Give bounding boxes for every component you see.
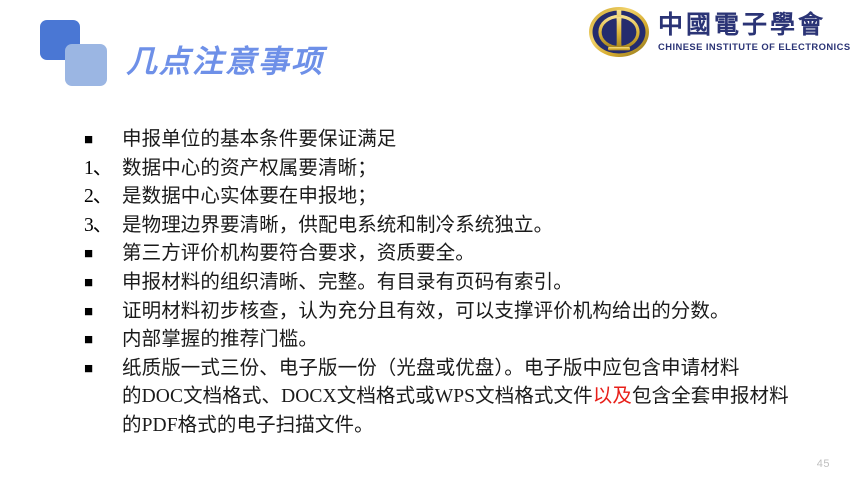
list-item: 2、 是数据中心实体要在申报地； bbox=[84, 183, 844, 212]
list-item-text: 证明材料初步核查，认为充分且有效，可以支撑评价机构给出的分数。 bbox=[122, 298, 844, 327]
last-item-line-3: 的PDF格式的电子扫描文件。 bbox=[122, 412, 844, 441]
list-marker-number: 2、 bbox=[84, 183, 122, 212]
last-item-line-2-before: 的DOC文档格式、DOCX文档格式或WPS文档格式文件 bbox=[122, 386, 593, 407]
bullet-square-icon: ■ bbox=[84, 298, 122, 327]
list-item-text: 数据中心的资产权属要清晰； bbox=[122, 155, 844, 184]
bullet-square-icon: ■ bbox=[84, 355, 122, 384]
list-marker-number: 1、 bbox=[84, 155, 122, 184]
header-decoration bbox=[40, 20, 118, 86]
logo-english-name: CHINESE INSTITUTE OF ELECTRONICS bbox=[658, 41, 851, 52]
list-item: ■ 第三方评价机构要符合要求，资质要全。 bbox=[84, 240, 844, 269]
list-item-text: 申报材料的组织清晰、完整。有目录有页码有索引。 bbox=[122, 269, 844, 298]
list-item: 3、 是物理边界要清晰，供配电系统和制冷系统独立。 bbox=[84, 212, 844, 241]
page-number: 45 bbox=[817, 458, 830, 470]
list-item: ■ 申报材料的组织清晰、完整。有目录有页码有索引。 bbox=[84, 269, 844, 298]
organization-logo: 中國電子學會 CHINESE INSTITUTE OF ELECTRONICS bbox=[588, 4, 856, 60]
list-item-text: 申报单位的基本条件要保证满足 bbox=[122, 126, 844, 155]
cie-emblem-icon bbox=[588, 5, 650, 59]
logo-wordmark: 中國電子學會 CHINESE INSTITUTE OF ELECTRONICS bbox=[658, 11, 851, 53]
list-item: ■ 内部掌握的推荐门槛。 bbox=[84, 326, 844, 355]
last-item-accent-text: 以及 bbox=[593, 386, 632, 407]
last-item-line-2-after: 包含全套申报材料 bbox=[632, 386, 789, 407]
last-item-line-2: 的DOC文档格式、DOCX文档格式或WPS文档格式文件以及包含全套申报材料 bbox=[122, 383, 844, 412]
bullet-square-icon: ■ bbox=[84, 126, 122, 155]
list-item-text: 内部掌握的推荐门槛。 bbox=[122, 326, 844, 355]
list-item-text: 纸质版一式三份、电子版一份（光盘或优盘）。电子版中应包含申请材料 的DOC文档格… bbox=[122, 355, 844, 441]
list-item: 1、 数据中心的资产权属要清晰； bbox=[84, 155, 844, 184]
bullet-square-icon: ■ bbox=[84, 326, 122, 355]
logo-chinese-name: 中國電子學會 bbox=[658, 13, 851, 39]
list-item: ■ 证明材料初步核查，认为充分且有效，可以支撑评价机构给出的分数。 bbox=[84, 298, 844, 327]
slide-canvas: 几点注意事项 bbox=[0, 0, 860, 484]
last-item-line-1: 纸质版一式三份、电子版一份（光盘或优盘）。电子版中应包含申请材料 bbox=[122, 358, 739, 379]
decorative-square-front bbox=[65, 44, 107, 86]
list-item-text: 是数据中心实体要在申报地； bbox=[122, 183, 844, 212]
list-item: ■ 申报单位的基本条件要保证满足 bbox=[84, 126, 844, 155]
page-title: 几点注意事项 bbox=[126, 36, 324, 81]
list-item-multiline: ■ 纸质版一式三份、电子版一份（光盘或优盘）。电子版中应包含申请材料 的DOC文… bbox=[84, 355, 844, 441]
bullet-square-icon: ■ bbox=[84, 240, 122, 269]
list-item-text: 是物理边界要清晰，供配电系统和制冷系统独立。 bbox=[122, 212, 844, 241]
list-marker-number: 3、 bbox=[84, 212, 122, 241]
bullet-list: ■ 申报单位的基本条件要保证满足 1、 数据中心的资产权属要清晰； 2、 是数据… bbox=[84, 126, 844, 441]
list-item-text: 第三方评价机构要符合要求，资质要全。 bbox=[122, 240, 844, 269]
bullet-square-icon: ■ bbox=[84, 269, 122, 298]
